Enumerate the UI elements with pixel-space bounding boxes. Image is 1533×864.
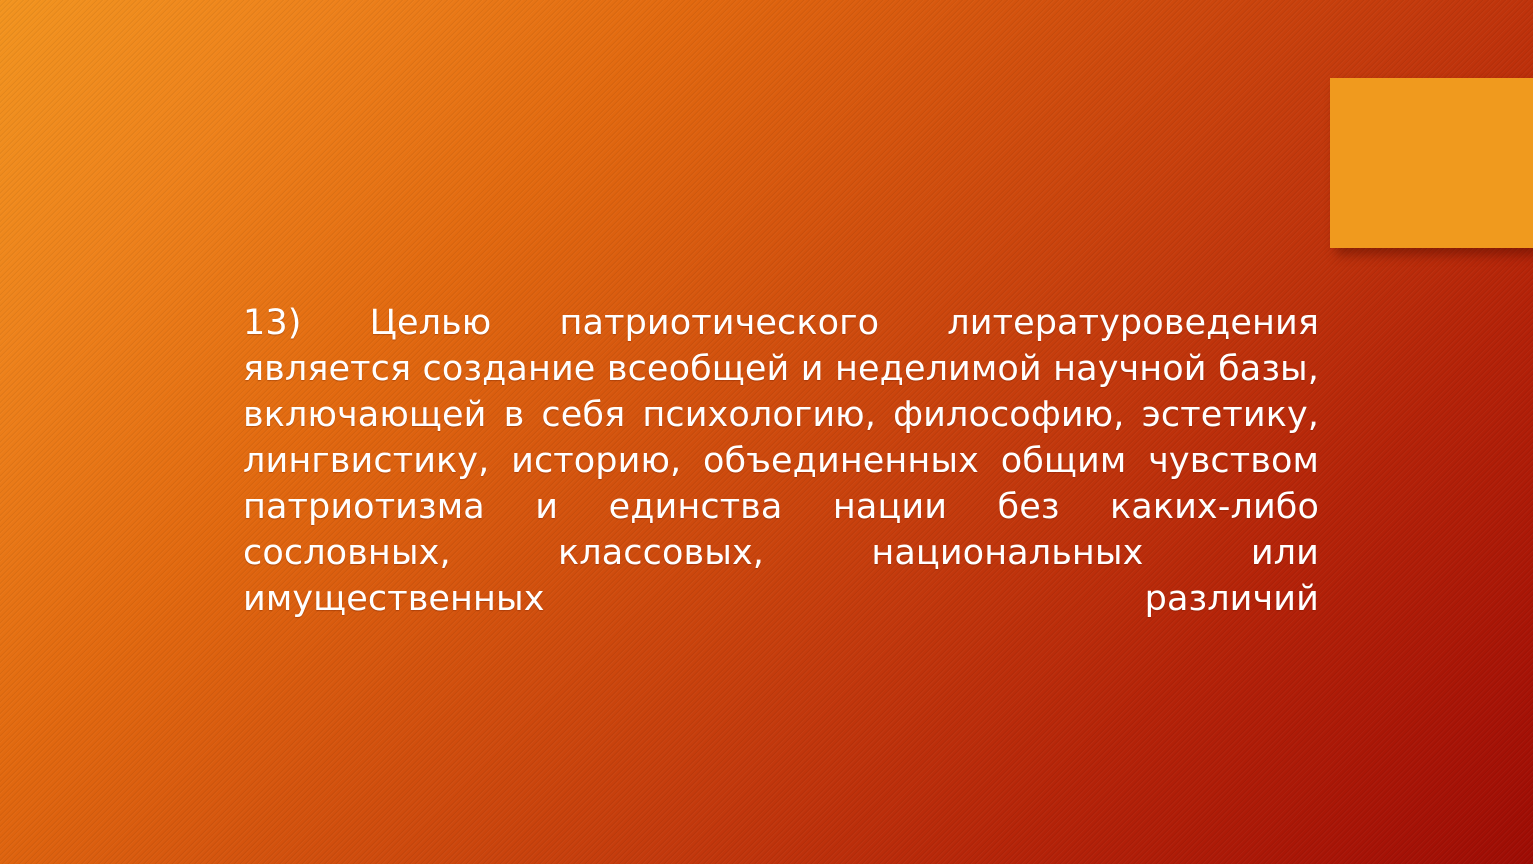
- slide-body-text: 13) Целью патриотического литературоведе…: [243, 300, 1319, 668]
- presentation-slide: 13) Целью патриотического литературоведе…: [0, 0, 1533, 864]
- orange-accent-rectangle: [1330, 78, 1533, 248]
